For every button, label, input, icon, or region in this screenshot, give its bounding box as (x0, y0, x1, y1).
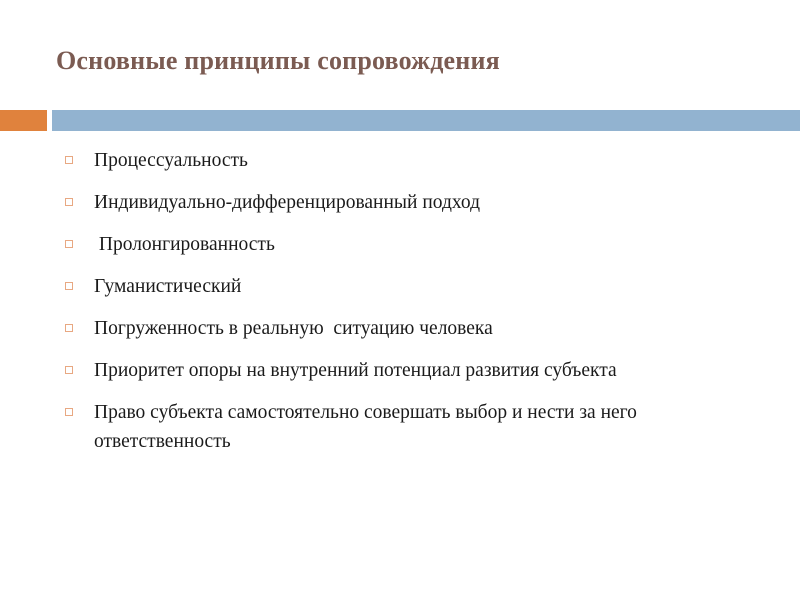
square-bullet-icon (65, 324, 73, 332)
square-bullet-icon (65, 240, 73, 248)
list-item: Индивидуально-дифференцированный подход (60, 188, 754, 217)
list-item-label: Пролонгированность (94, 230, 754, 259)
list-item: Гуманистический (60, 272, 754, 301)
square-bullet-icon (65, 366, 73, 374)
square-bullet-icon (65, 156, 73, 164)
divider-bar (52, 110, 800, 131)
list-item: Процессуальность (60, 146, 754, 175)
list-item-label: Гуманистический (94, 272, 754, 301)
divider-accent-block (0, 110, 47, 131)
list-item-label: Право субъекта самостоятельно совершать … (94, 398, 758, 456)
list-item: Приоритет опоры на внутренний потенциал … (60, 356, 706, 385)
page-title: Основные принципы сопровождения (56, 44, 766, 78)
square-bullet-icon (65, 408, 73, 416)
list-item: Право субъекта самостоятельно совершать … (60, 398, 758, 456)
list-item-label: Погруженность в реальную ситуацию челове… (94, 314, 754, 343)
square-bullet-icon (65, 198, 73, 206)
list-item-label: Индивидуально-дифференцированный подход (94, 188, 754, 217)
title-placeholder[interactable]: Основные принципы сопровождения (56, 44, 766, 84)
list-item: Погруженность в реальную ситуацию челове… (60, 314, 754, 343)
list-item-label: Приоритет опоры на внутренний потенциал … (94, 356, 706, 385)
content-placeholder[interactable]: Процессуальность Индивидуально-дифференц… (60, 146, 760, 456)
list-item: Пролонгированность (60, 230, 754, 259)
slide-canvas: Основные принципы сопровождения Процессу… (0, 0, 800, 600)
divider (0, 110, 800, 131)
list-item-label: Процессуальность (94, 146, 754, 175)
square-bullet-icon (65, 282, 73, 290)
